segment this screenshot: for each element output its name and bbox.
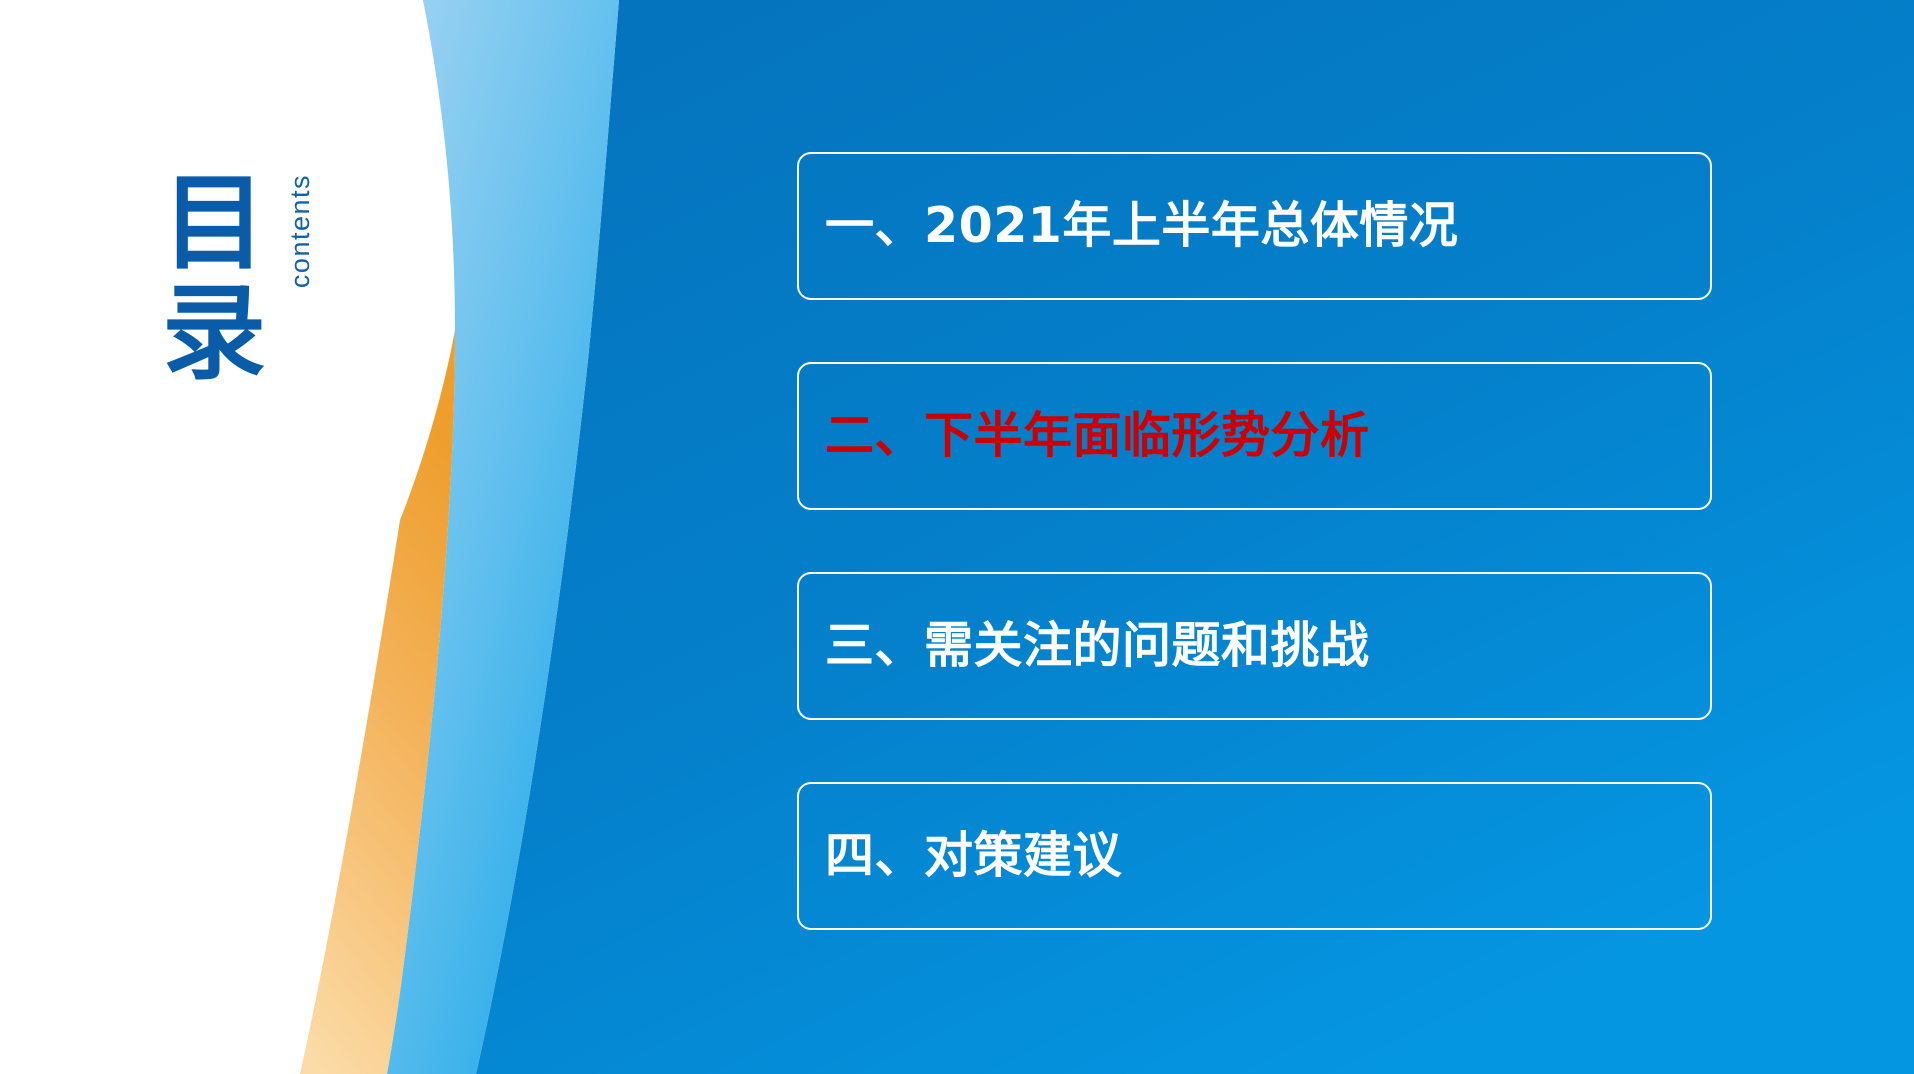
toc-item-2-label: 二、下半年面临形势分析 (799, 408, 1370, 464)
toc-item-1[interactable]: 一、2021年上半年总体情况 (797, 152, 1712, 300)
slide-title-group: 目 录 contents (155, 168, 375, 398)
toc-item-4[interactable]: 四、对策建议 (797, 782, 1712, 930)
toc-item-3-label: 三、需关注的问题和挑战 (799, 618, 1370, 674)
page-title-char-1: 目 (155, 168, 273, 278)
toc-item-3[interactable]: 三、需关注的问题和挑战 (797, 572, 1712, 720)
slide-canvas: 目 录 contents 一、2021年上半年总体情况 二、下半年面临形势分析 … (0, 0, 1914, 1074)
toc-item-4-label: 四、对策建议 (799, 828, 1122, 884)
page-title-char-2: 录 (155, 278, 273, 388)
page-subtitle-contents: contents (285, 174, 316, 288)
toc-item-2[interactable]: 二、下半年面临形势分析 (797, 362, 1712, 510)
toc-item-1-label: 一、2021年上半年总体情况 (799, 198, 1458, 254)
toc-list: 一、2021年上半年总体情况 二、下半年面临形势分析 三、需关注的问题和挑战 四… (797, 152, 1712, 930)
page-title: 目 录 (155, 168, 273, 388)
